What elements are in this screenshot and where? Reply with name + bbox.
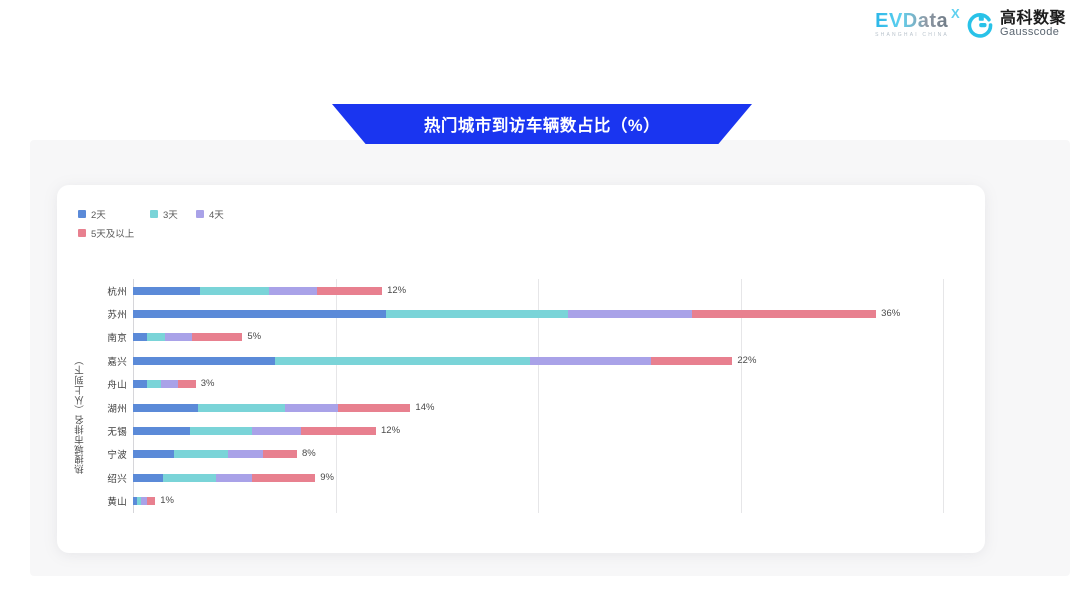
bar-segment-3天[interactable] — [147, 380, 161, 388]
bar-segment-5天及以上[interactable] — [147, 497, 155, 505]
bar-segment-4天[interactable] — [228, 450, 262, 458]
stacked-bar[interactable] — [133, 310, 876, 318]
gausscode-name-cn: 高科数聚 — [1000, 10, 1066, 27]
bar-segment-4天[interactable] — [269, 287, 318, 295]
bar-value-label: 8% — [302, 450, 316, 458]
stacked-bar[interactable] — [133, 357, 732, 365]
y-axis-tick-label: 苏州 — [57, 307, 127, 321]
bar-segment-3天[interactable] — [190, 427, 253, 435]
chart-title-banner: 热门城市到访车辆数占比（%） — [332, 104, 752, 144]
bar-row[interactable]: 黄山1% — [57, 490, 985, 513]
bar-segment-2天[interactable] — [133, 380, 147, 388]
bar-segment-3天[interactable] — [200, 287, 269, 295]
stacked-bar[interactable] — [133, 287, 382, 295]
stacked-bar[interactable] — [133, 404, 410, 412]
bar-row[interactable]: 无锡12% — [57, 419, 985, 442]
bar-segment-4天[interactable] — [530, 357, 652, 365]
y-axis-tick-label: 湖州 — [57, 401, 127, 415]
bar-row[interactable]: 湖州14% — [57, 396, 985, 419]
chart-bar-rows: 杭州12%苏州36%南京5%嘉兴22%舟山3%湖州14%无锡12%宁波8%绍兴9… — [57, 279, 985, 513]
bar-segment-2天[interactable] — [133, 450, 174, 458]
stacked-bar[interactable] — [133, 380, 196, 388]
bar-row[interactable]: 嘉兴22% — [57, 349, 985, 372]
bar-segment-5天及以上[interactable] — [338, 404, 411, 412]
y-axis-tick-label: 绍兴 — [57, 471, 127, 485]
bar-segment-3天[interactable] — [174, 450, 229, 458]
bar-segment-5天及以上[interactable] — [263, 450, 297, 458]
y-axis-tick-label: 舟山 — [57, 377, 127, 391]
bar-row[interactable]: 杭州12% — [57, 279, 985, 302]
stacked-bar[interactable] — [133, 450, 297, 458]
bar-segment-3天[interactable] — [275, 357, 530, 365]
bar-segment-5天及以上[interactable] — [692, 310, 876, 318]
page-title: 热门城市到访车辆数占比（%） — [424, 112, 660, 136]
bar-segment-3天[interactable] — [147, 333, 165, 341]
bar-value-label: 9% — [320, 474, 334, 482]
bar-value-label: 14% — [415, 404, 434, 412]
bar-segment-2天[interactable] — [133, 357, 275, 365]
bar-segment-5天及以上[interactable] — [252, 474, 315, 482]
stacked-bar[interactable] — [133, 474, 315, 482]
bar-value-label: 36% — [881, 310, 900, 318]
bar-segment-4天[interactable] — [161, 380, 177, 388]
y-axis-tick-label: 宁波 — [57, 447, 127, 461]
bar-row[interactable]: 绍兴9% — [57, 466, 985, 489]
y-axis-tick-label: 杭州 — [57, 284, 127, 298]
y-axis-tick-label: 无锡 — [57, 424, 127, 438]
evdata-tagline: shanghai china — [875, 33, 949, 38]
bar-segment-2天[interactable] — [133, 310, 386, 318]
bar-value-label: 3% — [201, 380, 215, 388]
bar-segment-4天[interactable] — [252, 427, 301, 435]
bar-segment-2天[interactable] — [133, 427, 190, 435]
gausscode-mark-icon — [967, 12, 993, 38]
bar-segment-3天[interactable] — [386, 310, 568, 318]
bar-segment-5天及以上[interactable] — [192, 333, 243, 341]
bar-segment-3天[interactable] — [163, 474, 216, 482]
bar-segment-2天[interactable] — [133, 474, 163, 482]
bar-segment-2天[interactable] — [133, 404, 198, 412]
y-axis-tick-label: 黄山 — [57, 494, 127, 508]
bar-segment-3天[interactable] — [198, 404, 285, 412]
bar-segment-2天[interactable] — [133, 287, 200, 295]
evdata-logo: EVData X shanghai china — [875, 11, 949, 38]
stacked-bar[interactable] — [133, 427, 376, 435]
bar-value-label: 5% — [247, 333, 261, 341]
bar-segment-4天[interactable] — [216, 474, 252, 482]
evdata-wordmark: EVData X — [875, 11, 948, 31]
bar-row[interactable]: 宁波8% — [57, 443, 985, 466]
bar-segment-5天及以上[interactable] — [301, 427, 376, 435]
gausscode-text: 高科数聚 Gausscode — [1000, 10, 1066, 39]
evdata-wordmark-text: EVData — [875, 10, 948, 32]
bar-value-label: 12% — [381, 427, 400, 435]
bar-row[interactable]: 南京5% — [57, 326, 985, 349]
bar-segment-5天及以上[interactable] — [317, 287, 382, 295]
stacked-bar[interactable] — [133, 497, 155, 505]
bar-row[interactable]: 苏州36% — [57, 302, 985, 325]
bar-segment-2天[interactable] — [133, 333, 147, 341]
bar-value-label: 22% — [737, 357, 756, 365]
bar-row[interactable]: 舟山3% — [57, 373, 985, 396]
logo-bar: EVData X shanghai china 高科数聚 Gausscode — [0, 0, 1080, 50]
bar-segment-4天[interactable] — [568, 310, 692, 318]
gausscode-name-en: Gausscode — [1000, 27, 1066, 39]
bar-value-label: 12% — [387, 287, 406, 295]
chart-card: 2天3天4天5天及以上 热搜城市排名（从上到下） 杭州12%苏州36%南京5%嘉… — [57, 185, 985, 553]
evdata-x-icon: X — [951, 7, 960, 20]
logo-group: EVData X shanghai china 高科数聚 Gausscode — [875, 10, 1066, 39]
chart-plot-area: 热搜城市排名（从上到下） 杭州12%苏州36%南京5%嘉兴22%舟山3%湖州14… — [57, 185, 985, 553]
stacked-bar[interactable] — [133, 333, 242, 341]
bar-segment-4天[interactable] — [285, 404, 338, 412]
bar-segment-4天[interactable] — [165, 333, 191, 341]
gausscode-logo: 高科数聚 Gausscode — [967, 10, 1066, 39]
bar-segment-5天及以上[interactable] — [651, 357, 732, 365]
y-axis-tick-label: 南京 — [57, 330, 127, 344]
bar-segment-5天及以上[interactable] — [178, 380, 196, 388]
y-axis-tick-label: 嘉兴 — [57, 354, 127, 368]
bar-value-label: 1% — [160, 497, 174, 505]
